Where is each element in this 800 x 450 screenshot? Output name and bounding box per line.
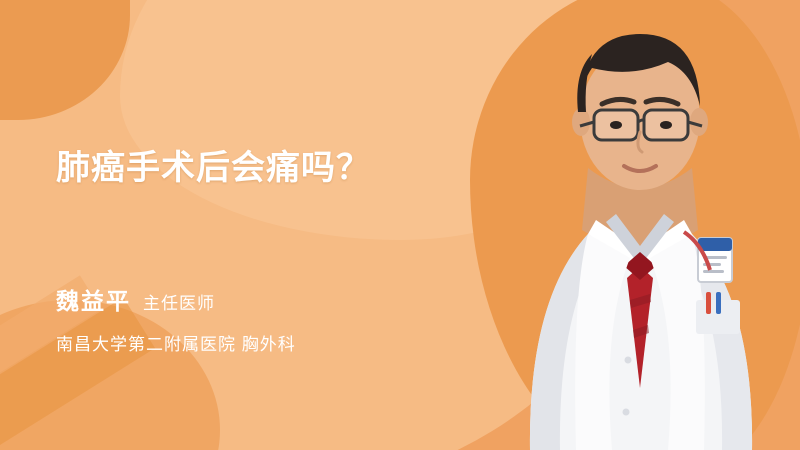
doctor-title: 主任医师	[143, 289, 215, 314]
doctor-identity: 魏益平 主任医师	[56, 282, 215, 316]
page-title: 肺癌手术后会痛吗？	[56, 148, 371, 189]
doctor-name: 魏益平	[56, 282, 131, 316]
doctor-affiliation: 南昌大学第二附属医院 胸外科	[56, 330, 296, 355]
video-thumbnail-card: 肺癌手术后会痛吗？ 魏益平 主任医师 南昌大学第二附属医院 胸外科	[0, 0, 800, 450]
doctor-portrait-illustration	[470, 0, 800, 450]
doctor-portrait	[470, 0, 800, 450]
